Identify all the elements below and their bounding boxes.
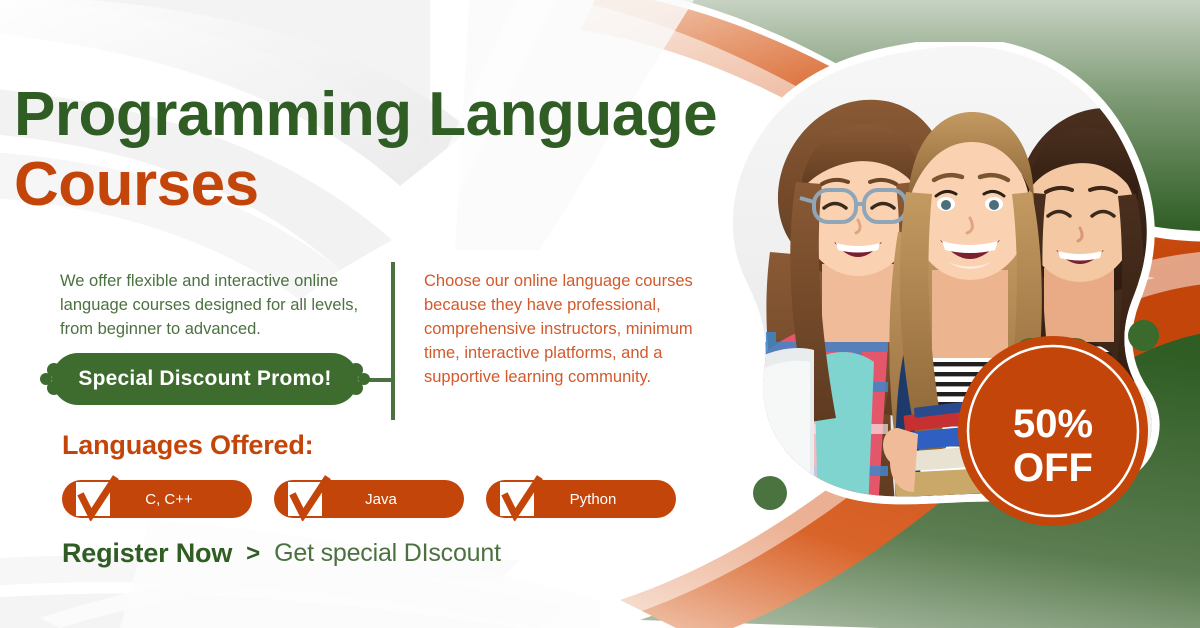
page-title: Programming Language Courses: [14, 82, 774, 221]
check-icon: [288, 482, 322, 516]
language-pill-c-cpp[interactable]: C, C++: [62, 480, 252, 518]
chevron-right-icon: >: [246, 542, 260, 566]
check-icon: [500, 482, 534, 516]
intro-paragraph-right: Choose our online language courses becau…: [424, 270, 724, 390]
discount-medallion: 50% OFF: [958, 336, 1148, 526]
discount-off-label: OFF: [1013, 444, 1093, 488]
section-divider: [370, 262, 400, 420]
check-icon: [76, 482, 110, 516]
languages-list: C, C++ Java Python: [62, 480, 676, 518]
register-now-label: Register Now: [62, 538, 232, 569]
languages-offered-heading: Languages Offered:: [62, 430, 313, 461]
decorative-dot-left: [753, 476, 787, 510]
register-subtext: Get special DIscount: [274, 539, 501, 568]
language-pill-python[interactable]: Python: [486, 480, 676, 518]
discount-text: 50% OFF: [958, 336, 1148, 526]
register-call-to-action[interactable]: Register Now > Get special DIscount: [62, 538, 501, 569]
language-pill-java[interactable]: Java: [274, 480, 464, 518]
intro-paragraph-left: We offer flexible and interactive online…: [60, 270, 380, 342]
divider-vertical-line: [391, 262, 395, 420]
promo-badge-label: Special Discount Promo!: [40, 353, 370, 405]
headline-line-1: Programming Language: [14, 82, 774, 148]
headline-line-2: Courses: [14, 148, 774, 221]
discount-percent: 50%: [1013, 374, 1093, 444]
promotional-banner: Programming Language Courses We offer fl…: [0, 0, 1200, 628]
special-discount-promo-badge[interactable]: Special Discount Promo!: [40, 353, 370, 405]
